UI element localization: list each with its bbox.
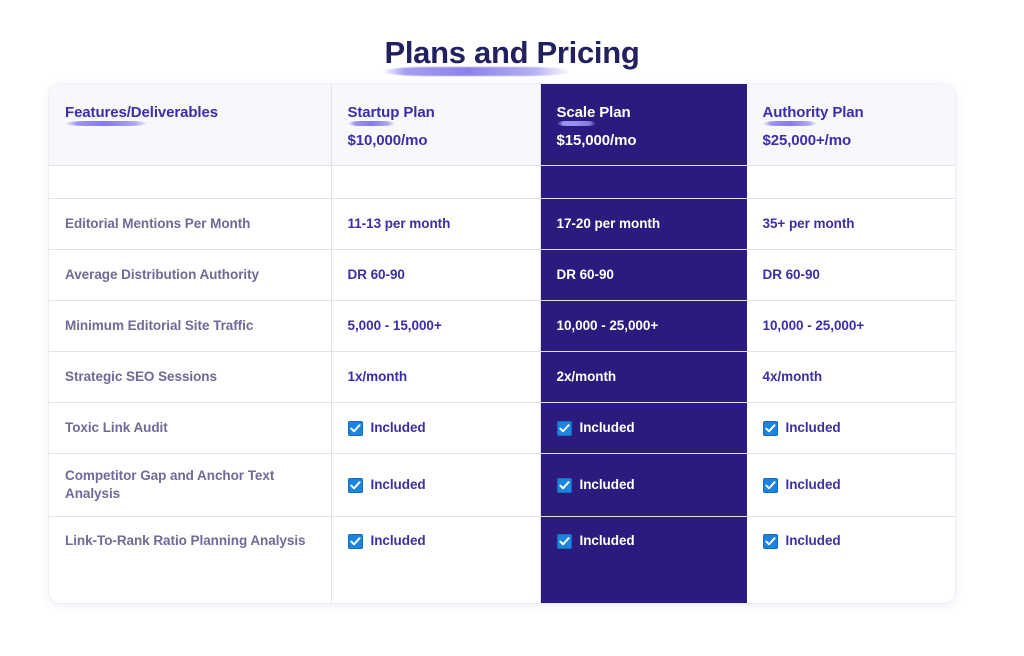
row-feature-label: Competitor Gap and Anchor Text Analysis [49, 454, 331, 517]
table-row: Editorial Mentions Per Month 11-13 per m… [49, 199, 955, 250]
row-cell-authority: Included [746, 403, 955, 454]
feature-label-text: Editorial Mentions Per Month [65, 216, 250, 231]
row-feature-label: Link-To-Rank Ratio Planning Analysis [49, 517, 331, 604]
row-cell-scale: Included [540, 517, 746, 604]
column-header-authority-price: $25,000+/mo [763, 132, 940, 149]
row-feature-label: Strategic SEO Sessions [49, 352, 331, 403]
included-indicator: Included [557, 532, 730, 550]
row-cell-authority: 35+ per month [746, 199, 955, 250]
table-row: Minimum Editorial Site Traffic 5,000 - 1… [49, 301, 955, 352]
cell-value-text: 10,000 - 25,000+ [763, 318, 865, 333]
cell-value-text: Included [371, 419, 426, 437]
pricing-table-body: Editorial Mentions Per Month 11-13 per m… [49, 166, 955, 604]
included-indicator: Included [763, 532, 940, 550]
page-title-text: Plans and Pricing [384, 35, 639, 70]
cell-value-text: DR 60-90 [763, 267, 820, 282]
cell-value-text: 11-13 per month [348, 216, 451, 231]
row-cell-scale: Included [540, 403, 746, 454]
cell-value-text: Included [580, 419, 635, 437]
column-header-scale-price: $15,000/mo [557, 132, 730, 149]
feature-label-text: Link-To-Rank Ratio Planning Analysis [65, 533, 305, 548]
column-header-startup-price: $10,000/mo [348, 132, 524, 149]
pricing-table: Features/Deliverables Startup Plan $10,0… [49, 84, 955, 603]
table-row: Average Distribution Authority DR 60-90 … [49, 250, 955, 301]
cell-value-text: Included [786, 419, 841, 437]
cell-value-text: 35+ per month [763, 216, 855, 231]
header-row: Features/Deliverables Startup Plan $10,0… [49, 84, 955, 166]
feature-label-text: Strategic SEO Sessions [65, 369, 217, 384]
cell-value-text: Included [371, 476, 426, 494]
pricing-page: Plans and Pricing Features/Deliverables … [0, 0, 1024, 656]
row-feature-label: Toxic Link Audit [49, 403, 331, 454]
cell-value-text: 5,000 - 15,000+ [348, 318, 442, 333]
checked-checkbox-icon [348, 534, 363, 549]
column-header-startup: Startup Plan $10,000/mo [331, 84, 540, 166]
cell-value-text: Included [786, 476, 841, 494]
included-indicator: Included [763, 476, 940, 494]
table-row: Competitor Gap and Anchor Text Analysis … [49, 454, 955, 517]
cell-value-text: Included [786, 532, 841, 550]
column-header-startup-label: Startup Plan [348, 103, 435, 125]
checked-checkbox-icon [763, 534, 778, 549]
column-header-scale-label: Scale Plan [557, 103, 631, 125]
column-header-authority-label: Authority Plan [763, 103, 864, 125]
column-header-features-label: Features/Deliverables [65, 103, 218, 125]
checked-checkbox-icon [557, 478, 572, 493]
cell-value-text: 17-20 per month [557, 216, 661, 231]
cell-value-text: 2x/month [557, 369, 617, 384]
included-indicator: Included [557, 419, 730, 437]
row-cell-authority: 4x/month [746, 352, 955, 403]
included-indicator: Included [557, 476, 730, 494]
row-cell-startup: 1x/month [331, 352, 540, 403]
row-cell-startup: DR 60-90 [331, 250, 540, 301]
row-cell-scale: Included [540, 454, 746, 517]
header-underline-swoosh-icon [557, 121, 597, 126]
row-cell-scale: 2x/month [540, 352, 746, 403]
spacer-cell-scale [540, 166, 746, 199]
checked-checkbox-icon [557, 421, 572, 436]
spacer-cell-feature [49, 166, 331, 199]
checked-checkbox-icon [348, 478, 363, 493]
cell-value-text: DR 60-90 [348, 267, 405, 282]
row-cell-authority: Included [746, 517, 955, 604]
title-underline-swoosh-icon [382, 67, 571, 76]
table-row: Toxic Link Audit Included [49, 403, 955, 454]
cell-value-text: Included [580, 532, 635, 550]
cell-value-text: Included [580, 476, 635, 494]
cell-value-text: DR 60-90 [557, 267, 614, 282]
row-cell-startup: 5,000 - 15,000+ [331, 301, 540, 352]
row-feature-label: Average Distribution Authority [49, 250, 331, 301]
checked-checkbox-icon [763, 478, 778, 493]
spacer-cell-startup [331, 166, 540, 199]
table-row: Link-To-Rank Ratio Planning Analysis Inc… [49, 517, 955, 604]
checked-checkbox-icon [763, 421, 778, 436]
table-row: Strategic SEO Sessions 1x/month 2x/month… [49, 352, 955, 403]
cell-value-text: 4x/month [763, 369, 823, 384]
feature-label-text: Minimum Editorial Site Traffic [65, 318, 253, 333]
included-indicator: Included [348, 419, 524, 437]
row-cell-authority: DR 60-90 [746, 250, 955, 301]
feature-label-text: Average Distribution Authority [65, 267, 259, 282]
cell-value-text: Included [371, 532, 426, 550]
column-header-features: Features/Deliverables [49, 84, 331, 166]
row-cell-startup: Included [331, 403, 540, 454]
row-cell-startup: Included [331, 454, 540, 517]
pricing-table-header: Features/Deliverables Startup Plan $10,0… [49, 84, 955, 166]
row-cell-startup: 11-13 per month [331, 199, 540, 250]
row-cell-startup: Included [331, 517, 540, 604]
spacer-cell-authority [746, 166, 955, 199]
page-title: Plans and Pricing [380, 35, 643, 77]
header-underline-swoosh-icon [65, 121, 148, 126]
feature-label-text: Toxic Link Audit [65, 420, 168, 435]
row-cell-scale: DR 60-90 [540, 250, 746, 301]
header-underline-swoosh-icon [348, 121, 395, 126]
checked-checkbox-icon [557, 534, 572, 549]
included-indicator: Included [348, 476, 524, 494]
row-feature-label: Minimum Editorial Site Traffic [49, 301, 331, 352]
column-header-authority: Authority Plan $25,000+/mo [746, 84, 955, 166]
pricing-card: Features/Deliverables Startup Plan $10,0… [49, 84, 955, 603]
cell-value-text: 10,000 - 25,000+ [557, 318, 659, 333]
checked-checkbox-icon [348, 421, 363, 436]
included-indicator: Included [763, 419, 940, 437]
included-indicator: Included [348, 532, 524, 550]
header-underline-swoosh-icon [763, 121, 818, 126]
column-header-scale: Scale Plan $15,000/mo [540, 84, 746, 166]
row-cell-scale: 17-20 per month [540, 199, 746, 250]
row-feature-label: Editorial Mentions Per Month [49, 199, 331, 250]
row-cell-authority: Included [746, 454, 955, 517]
feature-label-text: Competitor Gap and Anchor Text Analysis [65, 468, 274, 501]
row-cell-authority: 10,000 - 25,000+ [746, 301, 955, 352]
cell-value-text: 1x/month [348, 369, 408, 384]
table-spacer-row [49, 166, 955, 199]
row-cell-scale: 10,000 - 25,000+ [540, 301, 746, 352]
